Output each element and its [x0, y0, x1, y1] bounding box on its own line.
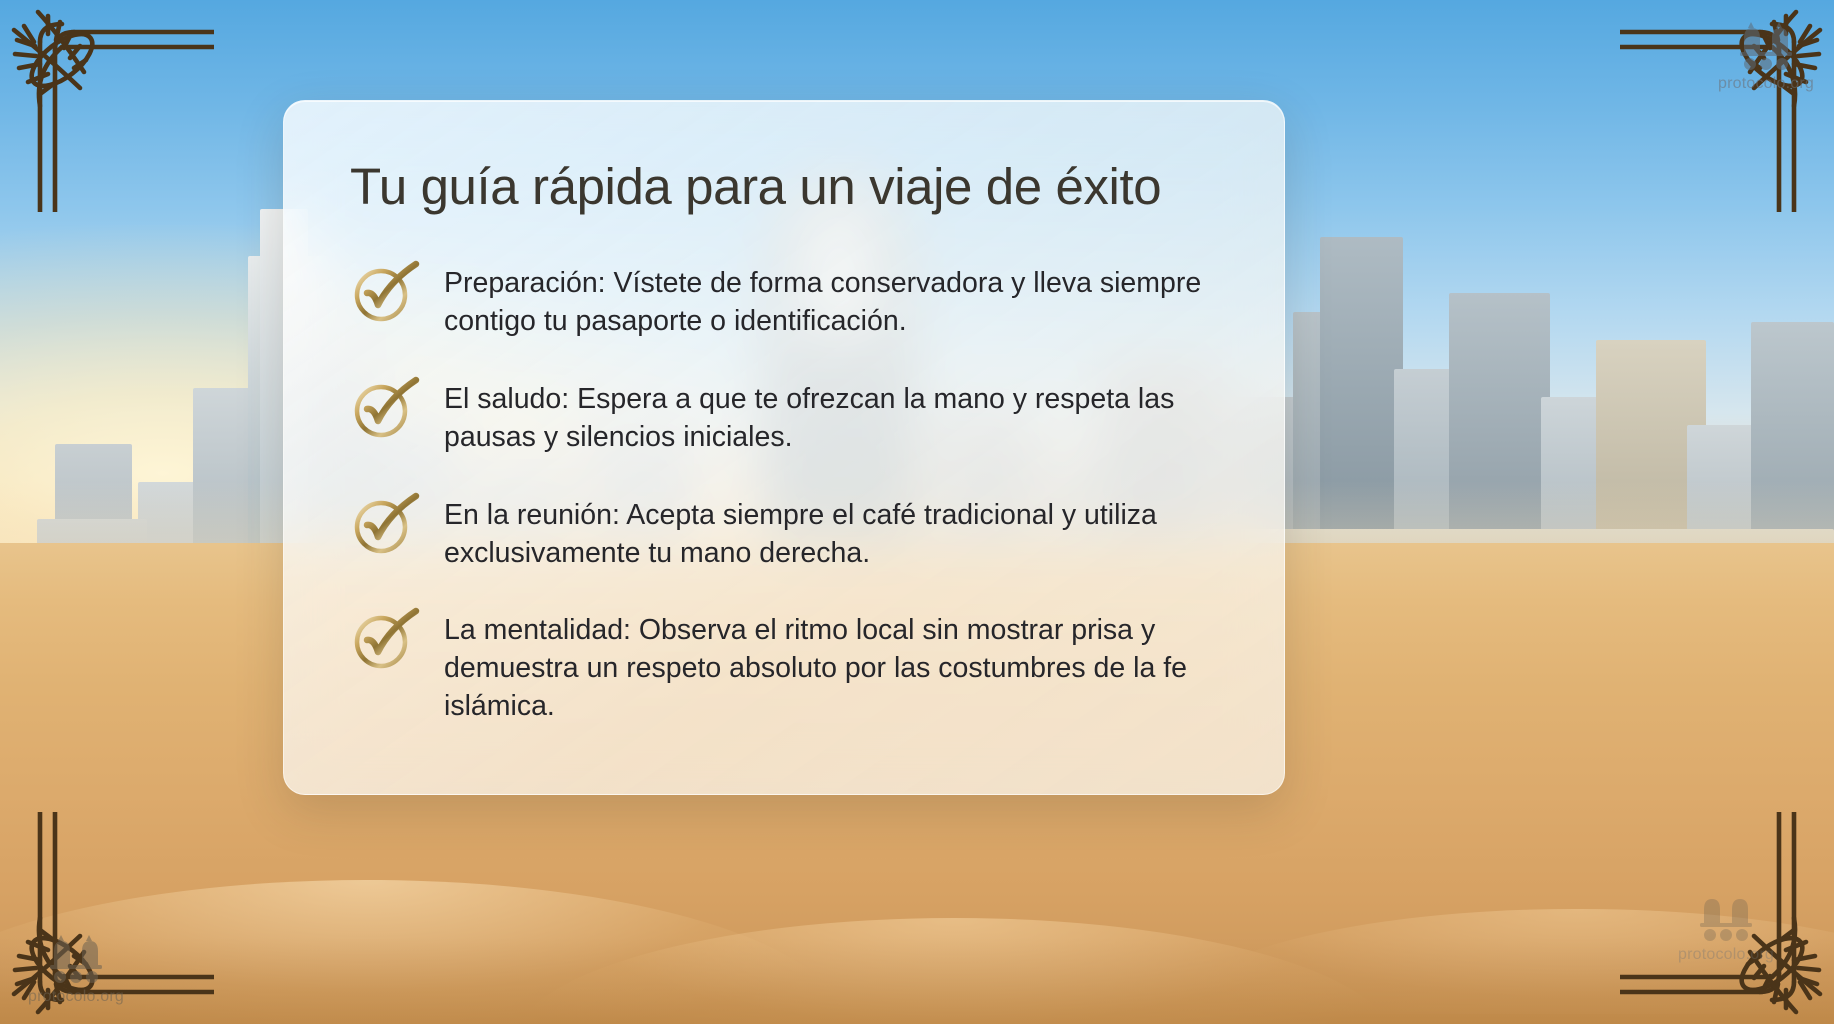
list-item: El saludo: Espera a que te ofrezcan la m…	[344, 373, 1220, 457]
list-item-text: En la reunión: Acepta siempre el café tr…	[444, 489, 1220, 573]
slide-canvas: protocolo.org protocolo.org	[0, 0, 1834, 1024]
gold-check-circle-icon	[350, 606, 422, 672]
leaf-corner-ornament-icon	[1620, 812, 1830, 1022]
page-title: Tu guía rápida para un viaje de éxito	[350, 159, 1220, 215]
gold-check-circle-icon	[350, 259, 422, 325]
guide-card: Tu guía rápida para un viaje de éxito	[283, 100, 1285, 795]
list-item: En la reunión: Acepta siempre el café tr…	[344, 489, 1220, 573]
leaf-corner-ornament-icon	[4, 2, 214, 212]
checklist: Preparación: Vístete de forma conservado…	[344, 257, 1220, 726]
gold-check-circle-icon	[350, 491, 422, 557]
list-item-text: El saludo: Espera a que te ofrezcan la m…	[444, 373, 1220, 457]
list-item: Preparación: Vístete de forma conservado…	[344, 257, 1220, 341]
gold-check-circle-icon	[350, 375, 422, 441]
dune-shadow	[0, 937, 1834, 1024]
list-item-text: Preparación: Vístete de forma conservado…	[444, 257, 1220, 341]
leaf-corner-ornament-icon	[4, 812, 214, 1022]
list-item: La mentalidad: Observa el ritmo local si…	[344, 604, 1220, 726]
list-item-text: La mentalidad: Observa el ritmo local si…	[444, 604, 1220, 726]
leaf-corner-ornament-icon	[1620, 2, 1830, 212]
